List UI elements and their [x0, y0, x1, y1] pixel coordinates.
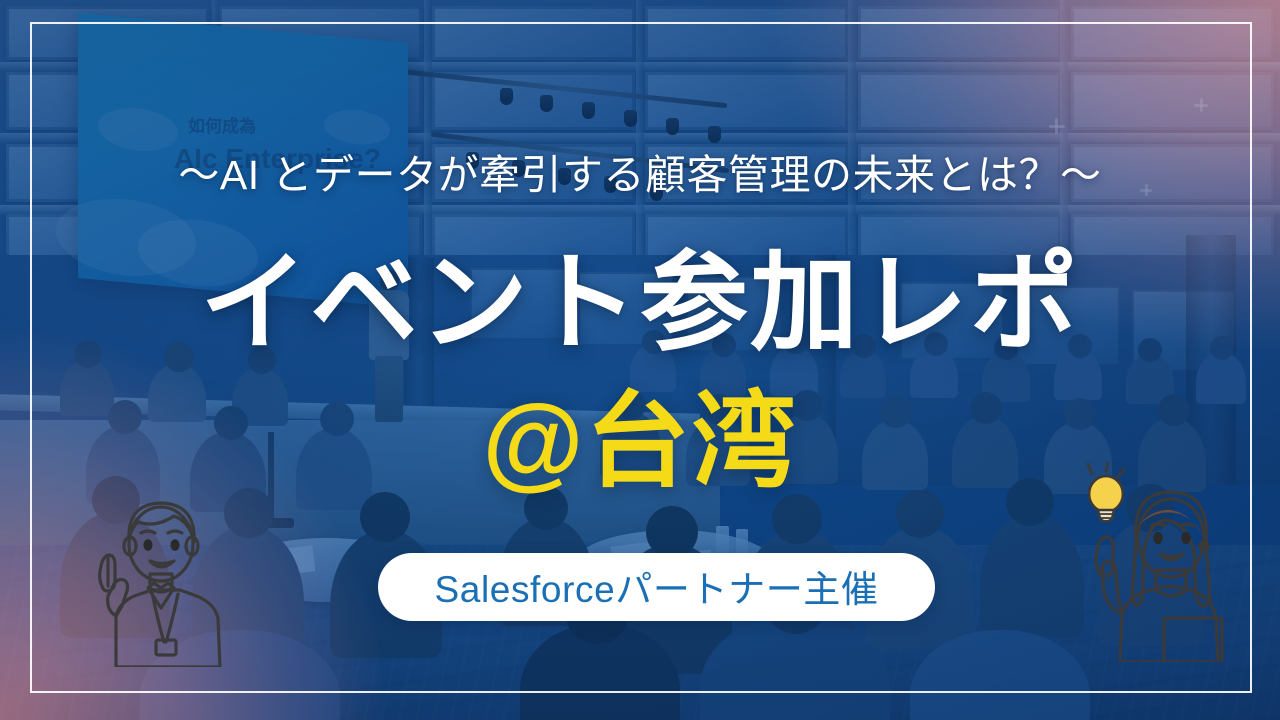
eye	[170, 539, 179, 551]
event-banner: 如何成為 AIc Enterprise?	[0, 0, 1280, 720]
arm	[108, 580, 128, 617]
pointing-hand	[1096, 537, 1113, 576]
head	[129, 507, 193, 581]
lightbulb-icon	[1088, 462, 1124, 522]
male-character-illustration	[86, 482, 232, 667]
document	[1164, 618, 1222, 662]
organizer-badge-label: Salesforceパートナー主催	[434, 559, 878, 613]
pointing-hand	[100, 555, 115, 591]
eye	[1181, 532, 1191, 544]
eye	[143, 539, 152, 551]
banner-subtitle: 〜AI とデータが牽引する顧客管理の未来とは？〜	[0, 141, 1280, 201]
eye	[1153, 532, 1163, 544]
female-character-illustration	[1068, 462, 1240, 662]
hair	[129, 503, 194, 542]
organizer-badge: Salesforceパートナー主催	[378, 553, 935, 621]
hair	[1132, 492, 1210, 606]
mouth	[150, 561, 174, 567]
banner-title-line1: イベント参加レポ	[0, 246, 1280, 359]
mouth	[1160, 554, 1183, 560]
